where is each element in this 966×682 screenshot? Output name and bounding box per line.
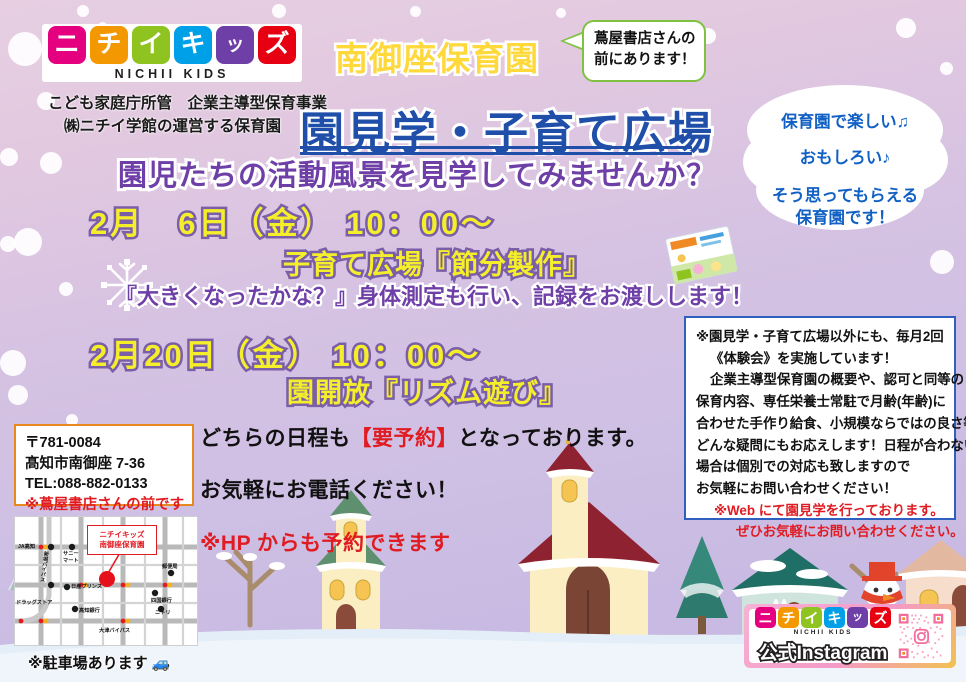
info-line-contact: ぜひお気軽にお問い合わせください。	[696, 521, 944, 543]
snow-dot	[896, 18, 916, 38]
info-line-web: ※Web にて園見学を行っております。	[696, 500, 944, 522]
ig-logo-block-0: ニ	[755, 607, 776, 628]
map-label: マート	[63, 557, 79, 564]
snow-dot	[556, 8, 566, 18]
event-1-note: 『大きくなったかな？』身体測定も行い、記録をお渡しします！	[115, 279, 753, 311]
snow-dot	[272, 4, 286, 18]
cloud-line-1: 保育園で楽しい♫	[740, 108, 950, 132]
map-callout: ニチイキッズ 南御座保育園	[87, 525, 157, 555]
address-box: 〒781-0084 髙知市南御座 7-36 TEL:088-882-0133 ※…	[14, 424, 194, 506]
snow-dot	[0, 236, 16, 252]
map-label: 大津バイパス	[99, 627, 130, 634]
instagram-card[interactable]: ニ チ イ キ ッ ズ NICHII KIDS 公式Instagram	[744, 604, 956, 668]
bubble-tail-inner	[564, 34, 582, 48]
instagram-brand: ニ チ イ キ ッ ズ NICHII KIDS 公式Instagram	[755, 607, 891, 665]
cloud-callout: 保育園で楽しい♫ おもしろい♪ そう思ってもらえる 保育園です！	[740, 82, 950, 232]
snow-dot	[0, 148, 18, 166]
reservation-required-badge: 【要予約】	[351, 427, 459, 450]
event-2-date: 2月20日（金） 10：00〜	[90, 330, 481, 375]
ig-logo-block-2: イ	[801, 607, 822, 628]
reservation-note: どちらの日程も【要予約】となっております。	[200, 422, 647, 452]
parking-note: ※駐車場あります 🚙	[28, 652, 170, 673]
snow-dot	[40, 152, 62, 174]
brand-tagline-1: こども家庭庁所管 企業主導型保育事業	[48, 91, 327, 113]
hp-reservation-note: ※HP からも予約できます	[200, 527, 451, 557]
reservation-pre: どちらの日程も	[200, 427, 351, 450]
nichii-kids-logo: ニ チ イ キ ッ ズ NICHII KIDS	[42, 24, 302, 82]
address-street: 髙知市南御座 7-36	[25, 454, 183, 475]
access-map[interactable]: ニチイキッズ 南御座保育園 JA高知 サニー マート 新堀バイパス ドラッグスト…	[14, 516, 198, 646]
ig-logo-block-1: チ	[778, 607, 799, 628]
logo-block-3: キ	[174, 26, 212, 64]
logo-block-5: ズ	[258, 26, 296, 64]
bubble-line-1: 蔦屋書店さんの	[594, 29, 694, 50]
snow-dot	[8, 32, 42, 66]
snow-dot	[59, 282, 73, 296]
map-label: 郵便局	[162, 563, 178, 570]
ig-logo-block-4: ッ	[847, 607, 868, 628]
info-line: 場合は個別での対応も致しますので	[696, 456, 944, 478]
instagram-qr-code[interactable]	[897, 609, 945, 663]
snow-dot	[77, 5, 89, 17]
info-line: ※園見学・子育て広場以外にも、毎月2回	[696, 326, 944, 348]
instagram-card-inner: ニ チ イ キ ッ ズ NICHII KIDS 公式Instagram	[749, 609, 951, 663]
leaflet-graphic	[662, 222, 742, 294]
event-2-title: 園開放『リズム遊び』	[287, 371, 567, 410]
call-note: お気軽にお電話ください！	[200, 474, 458, 504]
snow-dot	[940, 62, 953, 75]
map-label: JA高知	[18, 543, 35, 550]
map-label: サニー	[63, 550, 79, 557]
address-landmark: ※蔦屋書店さんの前です	[25, 495, 183, 516]
logo-block-4: ッ	[216, 26, 254, 64]
snow-dot	[410, 6, 421, 17]
parking-text: ※駐車場あります	[28, 655, 148, 672]
page-subtitle: 園児たちの活動風景を見学してみませんか？	[118, 152, 716, 194]
info-line: 《体験会》を実施しています！	[696, 348, 944, 370]
address-postal: 〒781-0084	[25, 433, 183, 454]
event-1-date: 2月 6日（金） 10：00〜	[90, 198, 495, 243]
map-label: 高知銀行	[79, 607, 100, 614]
info-line: 企業主導型保育園の概要や、認可と同等の	[696, 369, 944, 391]
ig-logo-block-5: ズ	[870, 607, 891, 628]
reservation-post: となっております。	[458, 427, 647, 450]
info-box: ※園見学・子育て広場以外にも、毎月2回 《体験会》を実施しています！ 企業主導型…	[684, 316, 956, 520]
logo-block-2: イ	[132, 26, 170, 64]
instagram-logo-subtitle: NICHII KIDS	[794, 629, 853, 636]
snow-dot	[14, 228, 42, 256]
location-speech-bubble: 蔦屋書店さんの 前にあります！	[582, 20, 706, 82]
poster-root: ニ チ イ キ ッ ズ NICHII KIDS こども家庭庁所管 企業主導型保育…	[0, 0, 966, 682]
brand-tagline-2: ㈱ニチイ学館の運営する保育園	[64, 114, 281, 136]
cloud-line-2: おもしろい♪	[740, 144, 950, 168]
info-line: 保育内容、専任栄養士常駐で月齢(年齢)に	[696, 391, 944, 413]
instagram-logo-row: ニ チ イ キ ッ ズ	[755, 607, 891, 628]
map-callout-line-2: 南御座保育園	[100, 540, 145, 550]
car-icon: 🚙	[152, 655, 171, 672]
logo-block-0: ニ	[48, 26, 86, 64]
cloud-line-4: 保育園です！	[740, 204, 950, 228]
snow-dot	[0, 350, 26, 376]
snow-dot	[8, 385, 28, 405]
map-label: 四国銀行	[151, 597, 172, 604]
instagram-label: 公式Instagram	[759, 638, 888, 665]
address-tel: TEL:088-882-0133	[25, 474, 183, 495]
map-label: ニトリ	[155, 609, 171, 616]
ig-logo-block-3: キ	[824, 607, 845, 628]
map-callout-line-1: ニチイキッズ	[100, 530, 145, 540]
snow-dot	[930, 250, 954, 274]
info-line: 合わせた手作り給食、小規模ならではの良さ等、	[696, 413, 944, 435]
logo-block-1: チ	[90, 26, 128, 64]
school-name: 南御座保育園	[335, 32, 539, 80]
event-1-title: 子育て広場『節分製作』	[283, 243, 591, 282]
logo-subtitle: NICHII KIDS	[115, 67, 230, 81]
cloud-line-3: そう思ってもらえる	[740, 182, 950, 206]
info-line: どんな疑問にもお応えします！日程が合わない	[696, 435, 944, 457]
map-label: ドラッグストア	[16, 599, 52, 606]
logo-block-row: ニ チ イ キ ッ ズ	[48, 26, 296, 64]
bubble-line-2: 前にあります！	[594, 50, 694, 71]
map-label: 日産プリンス	[71, 583, 102, 590]
info-line: お気軽にお問い合わせください！	[696, 478, 944, 500]
